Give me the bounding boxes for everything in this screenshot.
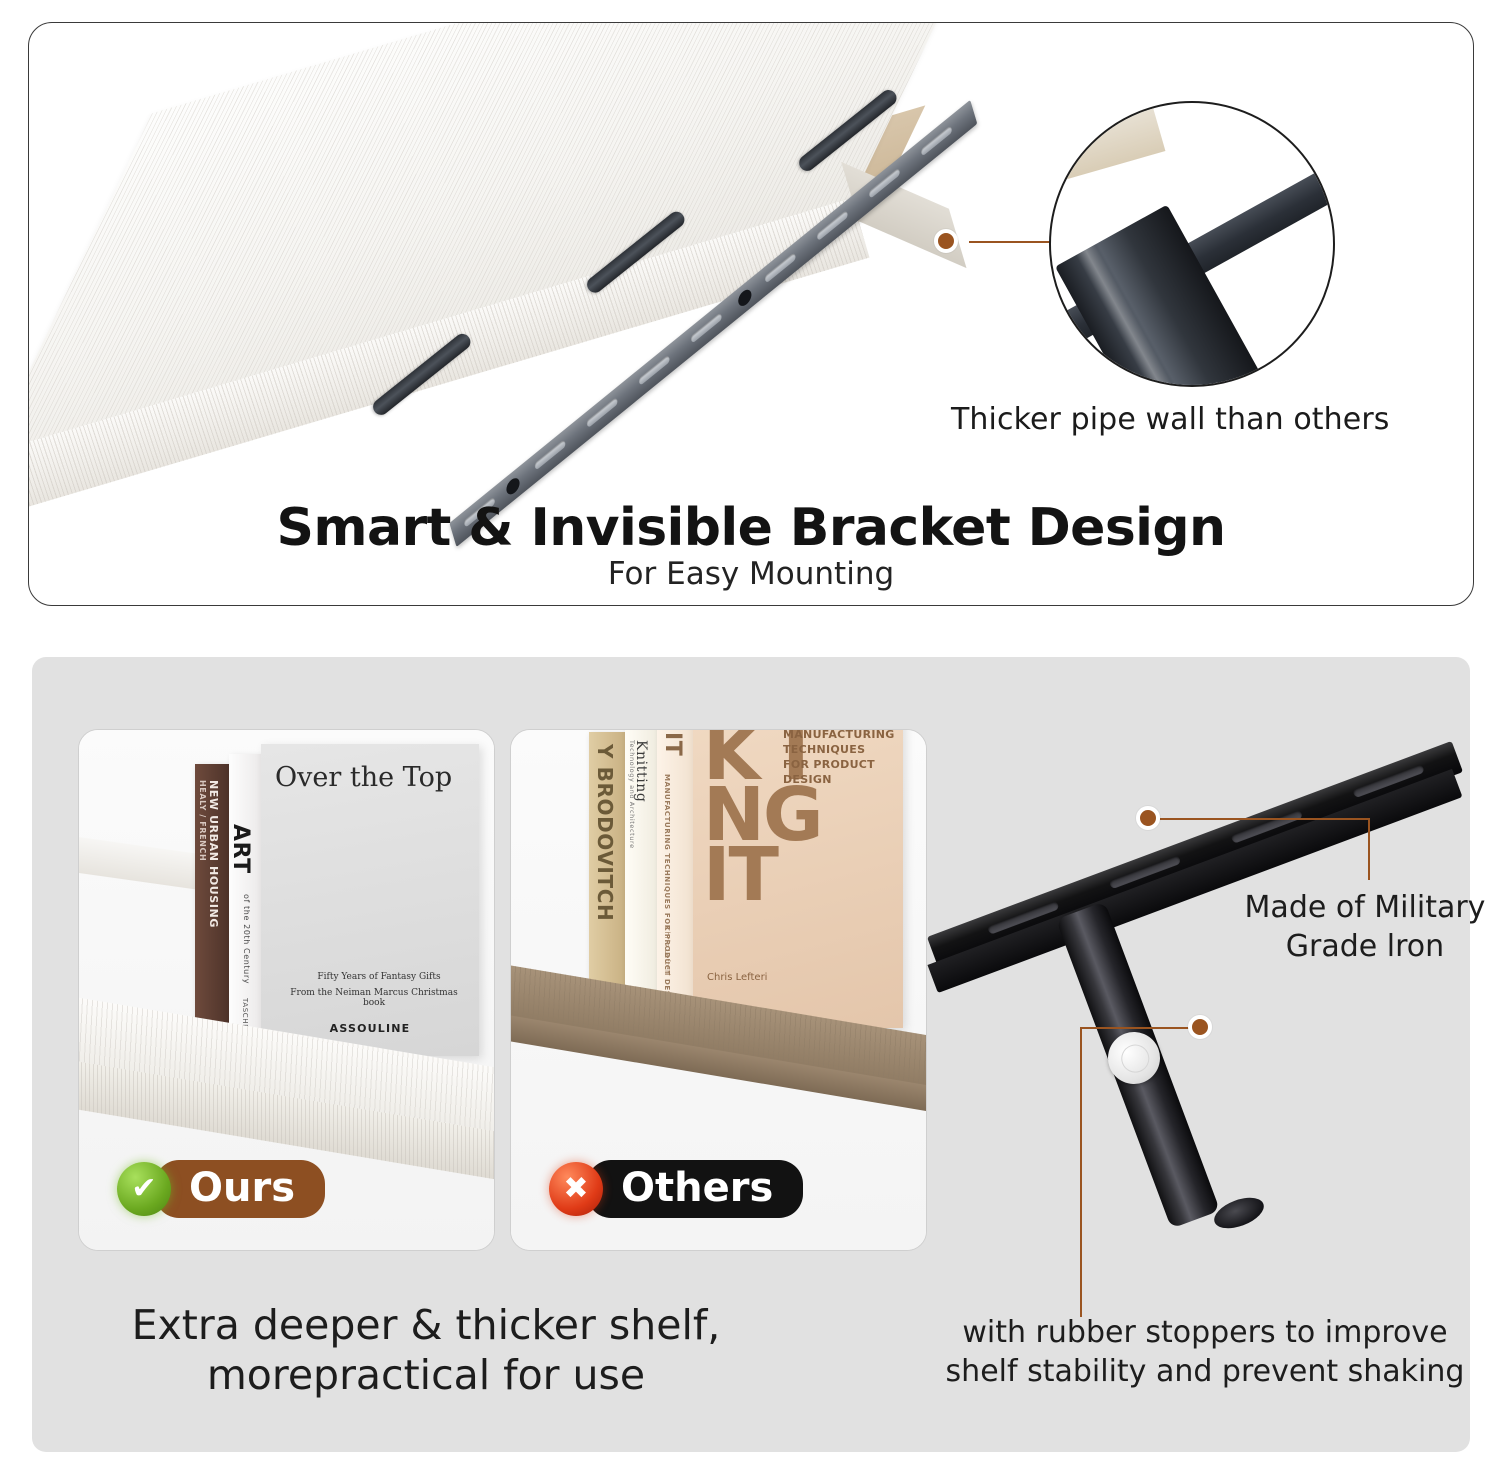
caption-right-line1: with rubber stoppers to improve (920, 1313, 1490, 1352)
book-subtitle-making-it: MANUFACTURING TECHNIQUES FOR PRODUCT DES… (783, 729, 895, 787)
badge-ours: ✔ Ours (117, 1160, 325, 1218)
top-feature-panel: Thicker pipe wall than others Smart & In… (28, 22, 1474, 606)
material-annotation: Made of Military Grade lron (1240, 888, 1490, 966)
book-subtitle-knitting: Technology and Architecture (628, 740, 636, 849)
infographic-page: Thicker pipe wall than others Smart & In… (0, 0, 1500, 1474)
badge-label-others: Others (587, 1160, 803, 1218)
badge-others: ✖ Others (549, 1160, 803, 1218)
page-subtitle: For Easy Mounting (29, 556, 1473, 592)
thicker-pipe-annotation: Thicker pipe wall than others (951, 402, 1471, 437)
book-title-art: ART (228, 824, 253, 874)
callout-dot-rubber (1188, 1015, 1212, 1039)
book-spine-art-20th-century: ART of the 20th Century TASCHEN (229, 754, 261, 1054)
closeup-pipe (1055, 205, 1327, 387)
callout-dot-material (1136, 806, 1160, 830)
closeup-board-corner (1049, 101, 1165, 184)
page-title: Smart & Invisible Bracket Design (29, 498, 1473, 558)
book-subtitle-art: of the 20th Century (242, 894, 251, 984)
book-author-new-urban-housing: HEALY / FRENCH (198, 780, 207, 861)
material-annotation-line2: Grade lron (1240, 927, 1490, 966)
comparison-card-others: Y BRODOVITCH Knitting Technology and Arc… (510, 729, 927, 1251)
book-title-over-the-top: Over the Top (275, 762, 465, 793)
callout-leader-material-v (1368, 818, 1370, 880)
x-circle-icon: ✖ (549, 1162, 603, 1216)
callout-dot-pipe-wall (934, 229, 958, 253)
caption-deeper-shelf: Extra deeper & thicker shelf, morepracti… (46, 1300, 806, 1400)
caption-left-line1: Extra deeper & thicker shelf, (46, 1300, 806, 1350)
book-title-brodovitch: Y BRODOVITCH (593, 744, 617, 921)
caption-right-line2: shelf stability and prevent shaking (920, 1352, 1490, 1391)
check-circle-icon: ✔ (117, 1162, 171, 1216)
callout-leader-top (969, 241, 1055, 243)
bracket-pipe-open-end (1210, 1192, 1268, 1235)
caption-rubber-stoppers: with rubber stoppers to improve shelf st… (920, 1313, 1490, 1391)
badge-label-ours: Ours (155, 1160, 325, 1218)
book-author-making-it: Chris Lefteri (707, 972, 767, 983)
book-spine-new-urban-housing: NEW URBAN HOUSING HEALY / FRENCH (195, 764, 229, 1054)
comparison-card-ours: NEW URBAN HOUSING HEALY / FRENCH ART of … (78, 729, 495, 1251)
book-subtitle-making-it-spine: MANUFACTURING TECHNIQUES FOR PRODUCT DES… (663, 774, 671, 1012)
book-cover-making-it: K I NG IT MANUFACTURING TECHNIQUES FOR P… (693, 729, 903, 1028)
pipe-wall-closeup-magnifier (1049, 101, 1335, 387)
book-spine-knitting: Knitting Technology and Architecture (625, 729, 657, 1024)
material-annotation-line1: Made of Military (1240, 888, 1490, 927)
callout-leader-rubber-v (1080, 1027, 1082, 1317)
bracket-rod-mid (584, 208, 688, 295)
book-subtitle2-over-the-top: From the Neiman Marcus Christmas book (279, 988, 469, 1008)
book-cover-over-the-top: Over the Top Fifty Years of Fantasy Gift… (261, 744, 479, 1056)
callout-leader-material-h (1160, 818, 1370, 820)
book-author-making-it-spine: Chris Lefteri (663, 926, 671, 976)
caption-left-line2: morepractical for use (46, 1350, 806, 1400)
book-title-making-it-spine: IT (660, 732, 685, 756)
bracket-product-illustration (880, 660, 1500, 1300)
book-title-new-urban-housing: NEW URBAN HOUSING (207, 780, 220, 928)
book-subtitle-over-the-top: Fifty Years of Fantasy Gifts (289, 972, 469, 982)
book-spine-making-it: IT MANUFACTURING TECHNIQUES FOR PRODUCT … (657, 729, 693, 1024)
